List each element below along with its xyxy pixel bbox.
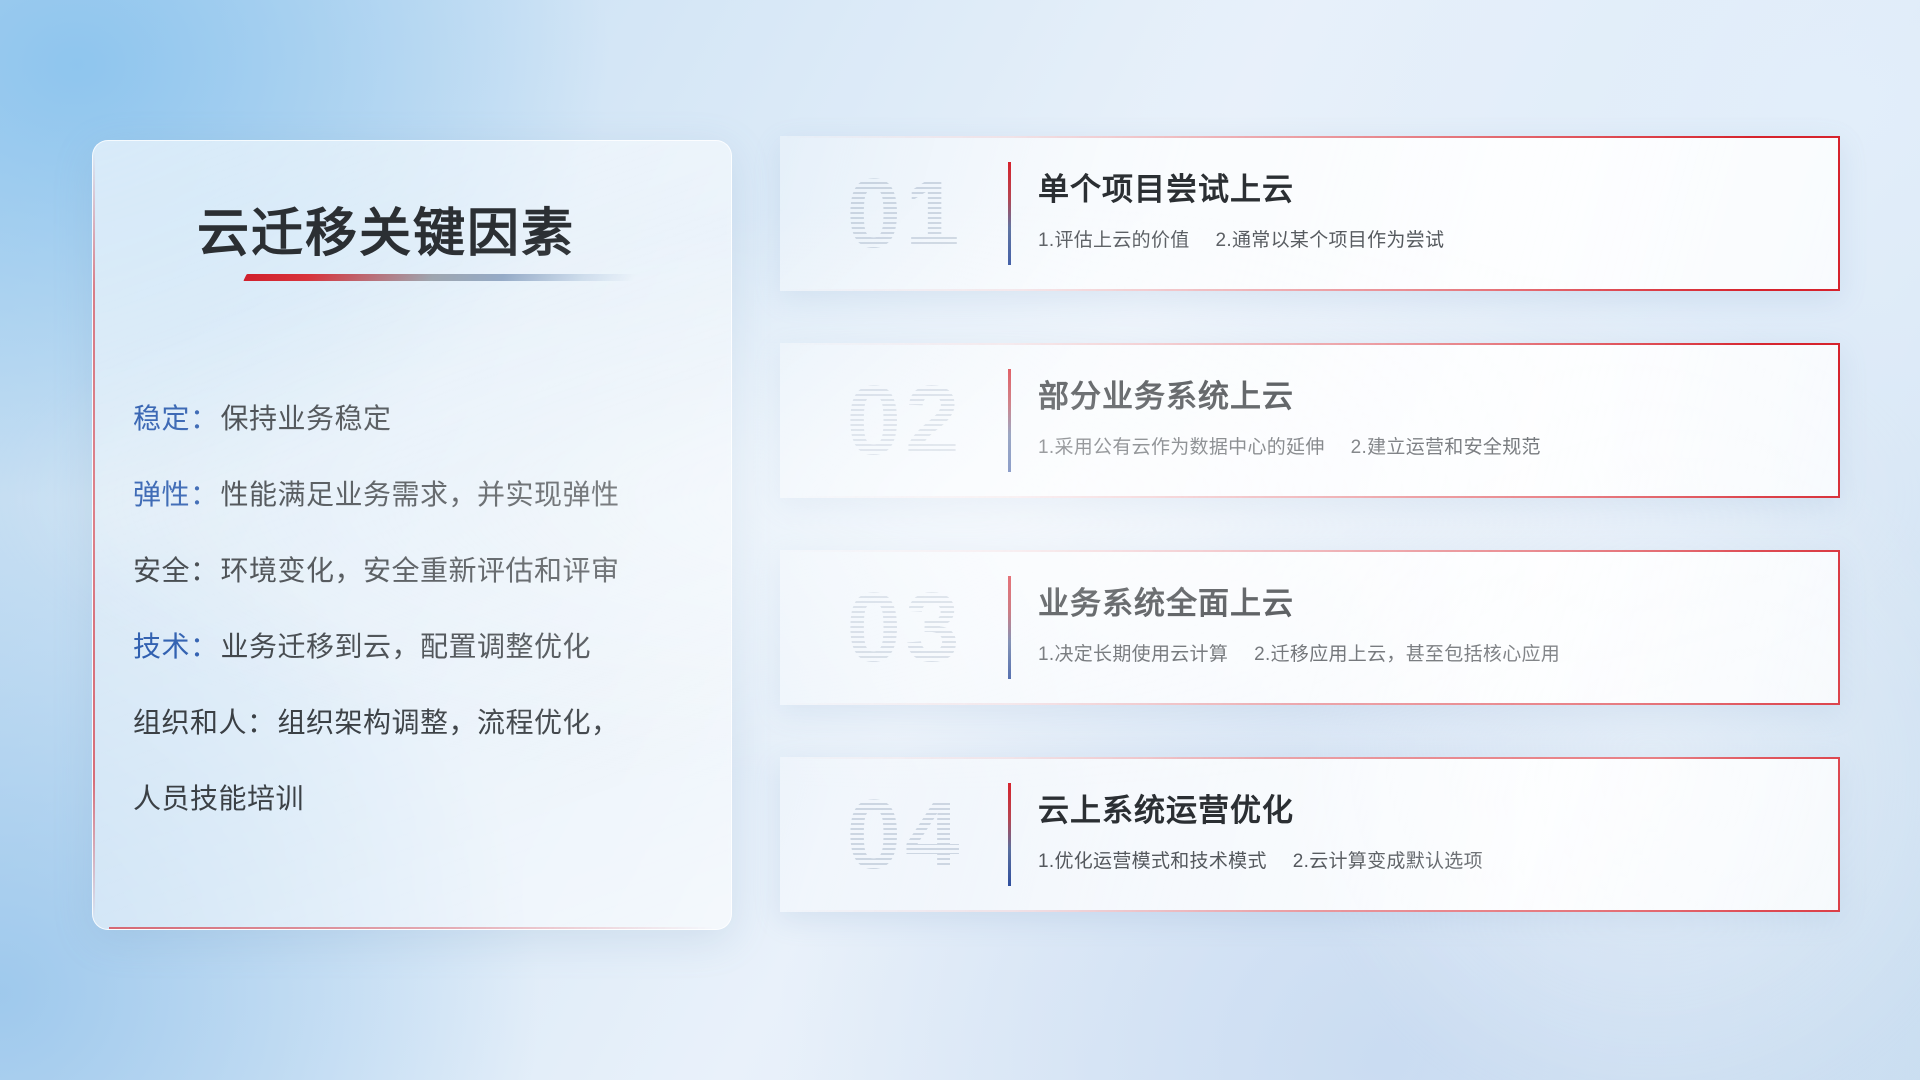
panel-title: 云迁移关键因素 — [197, 191, 575, 266]
card-divider-bar — [1008, 162, 1011, 265]
card-body: 业务系统全面上云 1.决定长期使用云计算2.迁移应用上云，甚至包括核心应用 — [1038, 578, 1800, 666]
card-title: 业务系统全面上云 — [1038, 578, 1800, 623]
card-description: 1.评估上云的价值2.通常以某个项目作为尝试 — [1038, 225, 1800, 252]
factor-key: 技术： — [133, 631, 219, 662]
card-top-rule — [780, 757, 1840, 759]
card-description-part-1: 1.评估上云的价值 — [1038, 230, 1190, 251]
card-description-part-2: 2.迁移应用上云，甚至包括核心应用 — [1254, 644, 1560, 665]
factor-key: 稳定： — [133, 403, 219, 434]
card-title: 云上系统运营优化 — [1038, 785, 1800, 830]
card-number: 03 — [810, 566, 1000, 688]
card-body: 云上系统运营优化 1.优化运营模式和技术模式2.云计算变成默认选项 — [1038, 785, 1800, 873]
card-description-part-2: 2.云计算变成默认选项 — [1293, 851, 1483, 872]
stage-card-list: 01 单个项目尝试上云 1.评估上云的价值2.通常以某个项目作为尝试 02 部分… — [780, 136, 1840, 964]
factor-value: 环境变化，安全重新评估和评审 — [221, 555, 620, 586]
factor-value: 性能满足业务需求，并实现弹性 — [221, 479, 620, 510]
card-body: 单个项目尝试上云 1.评估上云的价值2.通常以某个项目作为尝试 — [1038, 164, 1800, 252]
card-top-rule — [780, 550, 1840, 552]
stage-card-04[interactable]: 04 云上系统运营优化 1.优化运营模式和技术模式2.云计算变成默认选项 — [780, 757, 1840, 912]
stage-card-03[interactable]: 03 业务系统全面上云 1.决定长期使用云计算2.迁移应用上云，甚至包括核心应用 — [780, 550, 1840, 705]
factor-key: 组织和人： — [133, 707, 276, 738]
key-factors-panel: 云迁移关键因素 稳定：保持业务稳定 弹性：性能满足业务需求，并实现弹性 安全：环… — [92, 140, 732, 930]
card-description-part-1: 1.决定长期使用云计算 — [1038, 644, 1228, 665]
factor-list: 稳定：保持业务稳定 弹性：性能满足业务需求，并实现弹性 安全：环境变化，安全重新… — [133, 381, 703, 837]
card-divider-bar — [1008, 783, 1011, 886]
card-title: 部分业务系统上云 — [1038, 371, 1800, 416]
card-divider-bar — [1008, 369, 1011, 472]
card-description-part-2: 2.建立运营和安全规范 — [1351, 437, 1541, 458]
factor-item-organization: 组织和人：组织架构调整，流程优化， — [133, 685, 703, 761]
card-bottom-rule — [780, 703, 1840, 705]
card-right-accent — [1838, 550, 1840, 705]
card-description: 1.决定长期使用云计算2.迁移应用上云，甚至包括核心应用 — [1038, 639, 1800, 666]
card-top-rule — [780, 343, 1840, 345]
panel-left-accent-bar — [93, 151, 95, 919]
card-right-accent — [1838, 757, 1840, 912]
card-number: 04 — [810, 773, 1000, 895]
factor-value: 组织架构调整，流程优化， — [278, 707, 620, 738]
card-description: 1.采用公有云作为数据中心的延伸2.建立运营和安全规范 — [1038, 432, 1800, 459]
factor-value: 保持业务稳定 — [221, 403, 392, 434]
card-description-part-1: 1.优化运营模式和技术模式 — [1038, 851, 1267, 872]
stage-card-02[interactable]: 02 部分业务系统上云 1.采用公有云作为数据中心的延伸2.建立运营和安全规范 — [780, 343, 1840, 498]
stage-card-01[interactable]: 01 单个项目尝试上云 1.评估上云的价值2.通常以某个项目作为尝试 — [780, 136, 1840, 291]
factor-item-technology: 技术：业务迁移到云，配置调整优化 — [133, 609, 703, 685]
card-title: 单个项目尝试上云 — [1038, 164, 1800, 209]
card-right-accent — [1838, 136, 1840, 291]
factor-item-organization-line2: 人员技能培训 — [133, 761, 703, 837]
factor-item-stability: 稳定：保持业务稳定 — [133, 381, 703, 457]
card-bottom-rule — [780, 289, 1840, 291]
title-underline-gradient — [243, 274, 636, 281]
card-number: 02 — [810, 359, 1000, 481]
card-body: 部分业务系统上云 1.采用公有云作为数据中心的延伸2.建立运营和安全规范 — [1038, 371, 1800, 459]
card-bottom-rule — [780, 910, 1840, 912]
card-bottom-rule — [780, 496, 1840, 498]
card-right-accent — [1838, 343, 1840, 498]
factor-key: 安全： — [133, 555, 219, 586]
factor-item-security: 安全：环境变化，安全重新评估和评审 — [133, 533, 703, 609]
factor-value: 业务迁移到云，配置调整优化 — [221, 631, 592, 662]
factor-key: 弹性： — [133, 479, 219, 510]
card-number: 01 — [810, 152, 1000, 274]
card-description-part-1: 1.采用公有云作为数据中心的延伸 — [1038, 437, 1325, 458]
card-description: 1.优化运营模式和技术模式2.云计算变成默认选项 — [1038, 846, 1800, 873]
factor-item-elasticity: 弹性：性能满足业务需求，并实现弹性 — [133, 457, 703, 533]
card-divider-bar — [1008, 576, 1011, 679]
slide-canvas: 云迁移关键因素 稳定：保持业务稳定 弹性：性能满足业务需求，并实现弹性 安全：环… — [0, 0, 1920, 1080]
card-description-part-2: 2.通常以某个项目作为尝试 — [1216, 230, 1445, 251]
panel-bottom-accent-bar — [109, 927, 715, 929]
card-top-rule — [780, 136, 1840, 138]
factor-value: 人员技能培训 — [133, 783, 304, 814]
